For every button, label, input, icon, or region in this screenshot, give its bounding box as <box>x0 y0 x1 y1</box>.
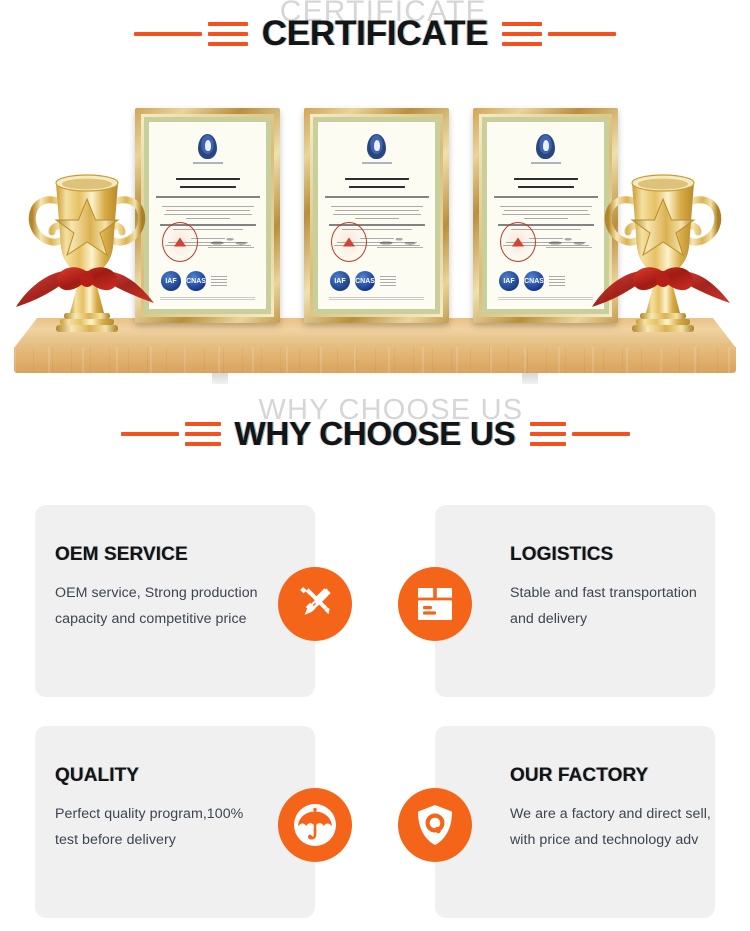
red-official-seal-icon <box>331 222 367 262</box>
feature-card-description: OEM service, Strong production capacity … <box>55 580 260 632</box>
handwritten-signature-icon <box>377 234 423 249</box>
red-official-seal-icon <box>162 222 198 262</box>
why-choose-us-heading-title: WHY CHOOSE US <box>235 415 516 453</box>
pencil-ruler-icon <box>278 567 352 641</box>
feature-card-logistics[interactable]: LOGISTICS Stable and fast transportation… <box>435 505 715 697</box>
feature-card-description: Perfect quality program,100% test before… <box>55 801 260 853</box>
feature-card-title: QUALITY <box>55 765 260 787</box>
emblem-caption-line <box>362 162 392 164</box>
triple-bar-rule-icon-left <box>134 19 248 49</box>
certificate-heading-title: CERTIFICATE <box>262 14 489 54</box>
feature-card-row: OEM SERVICE OEM service, Strong producti… <box>0 505 750 697</box>
handwritten-signature-icon <box>208 234 254 249</box>
emblem-caption-line <box>193 162 223 164</box>
triple-bar-rule-icon-right <box>530 419 630 449</box>
certification-emblem-icon <box>536 134 555 159</box>
cnas-logo-icon: CNAS <box>524 271 544 291</box>
triple-bar-rule-icon-left <box>121 419 221 449</box>
emblem-caption-line <box>531 162 561 164</box>
certificate-footnote <box>329 297 424 302</box>
certificate-footnote <box>498 297 593 302</box>
handwritten-signature-icon <box>546 234 592 249</box>
shelf-wood-grain <box>14 347 736 373</box>
logo-text-bars <box>211 276 227 287</box>
iaf-logo-icon: IAF <box>499 271 519 291</box>
triple-bar-rule-icon-right <box>502 19 616 49</box>
cnas-logo-icon: CNAS <box>355 271 375 291</box>
gold-trophy-icon-right <box>588 135 738 340</box>
accreditation-logos: IAF CNAS <box>499 271 565 291</box>
red-official-seal-icon <box>500 222 536 262</box>
shelf-foot-right <box>522 373 538 384</box>
feature-card-quality[interactable]: QUALITY Perfect quality program,100% tes… <box>35 726 315 918</box>
umbrella-icon <box>278 788 352 862</box>
shield-q-icon <box>398 788 472 862</box>
certificate-section-heading: CERTIFICATE CERTIFICATE <box>0 14 750 54</box>
feature-card-title: OUR FACTORY <box>510 765 715 787</box>
shelf-foot-left <box>212 373 228 384</box>
certification-emblem-icon <box>198 134 217 159</box>
logo-text-bars <box>549 276 565 287</box>
gold-trophy-icon-left <box>12 135 162 340</box>
certificate-display-image: IAF CNAS <box>0 88 750 398</box>
accreditation-logos: IAF CNAS <box>330 271 396 291</box>
feature-card-row: QUALITY Perfect quality program,100% tes… <box>0 726 750 918</box>
why-choose-us-section-heading: WHY CHOOSE US WHY CHOOSE US <box>0 415 750 453</box>
certificate-frame: IAF CNAS <box>304 108 449 323</box>
feature-card-title: LOGISTICS <box>510 544 715 566</box>
feature-card-our-factory[interactable]: OUR FACTORY We are a factory and direct … <box>435 726 715 918</box>
feature-card-oem-service[interactable]: OEM SERVICE OEM service, Strong producti… <box>35 505 315 697</box>
package-box-icon <box>398 567 472 641</box>
certificate-frames-row: IAF CNAS <box>135 108 618 323</box>
feature-card-title: OEM SERVICE <box>55 544 260 566</box>
certificate-footnote <box>160 297 255 302</box>
why-choose-us-cards: OEM SERVICE OEM service, Strong producti… <box>0 505 750 918</box>
logo-text-bars <box>380 276 396 287</box>
iaf-logo-icon: IAF <box>161 271 181 291</box>
cnas-logo-icon: CNAS <box>186 271 206 291</box>
iaf-logo-icon: IAF <box>330 271 350 291</box>
accreditation-logos: IAF CNAS <box>161 271 227 291</box>
feature-card-description: Stable and fast transportation and deliv… <box>510 580 715 632</box>
feature-card-description: We are a factory and direct sell, with p… <box>510 801 715 853</box>
certification-emblem-icon <box>367 134 386 159</box>
